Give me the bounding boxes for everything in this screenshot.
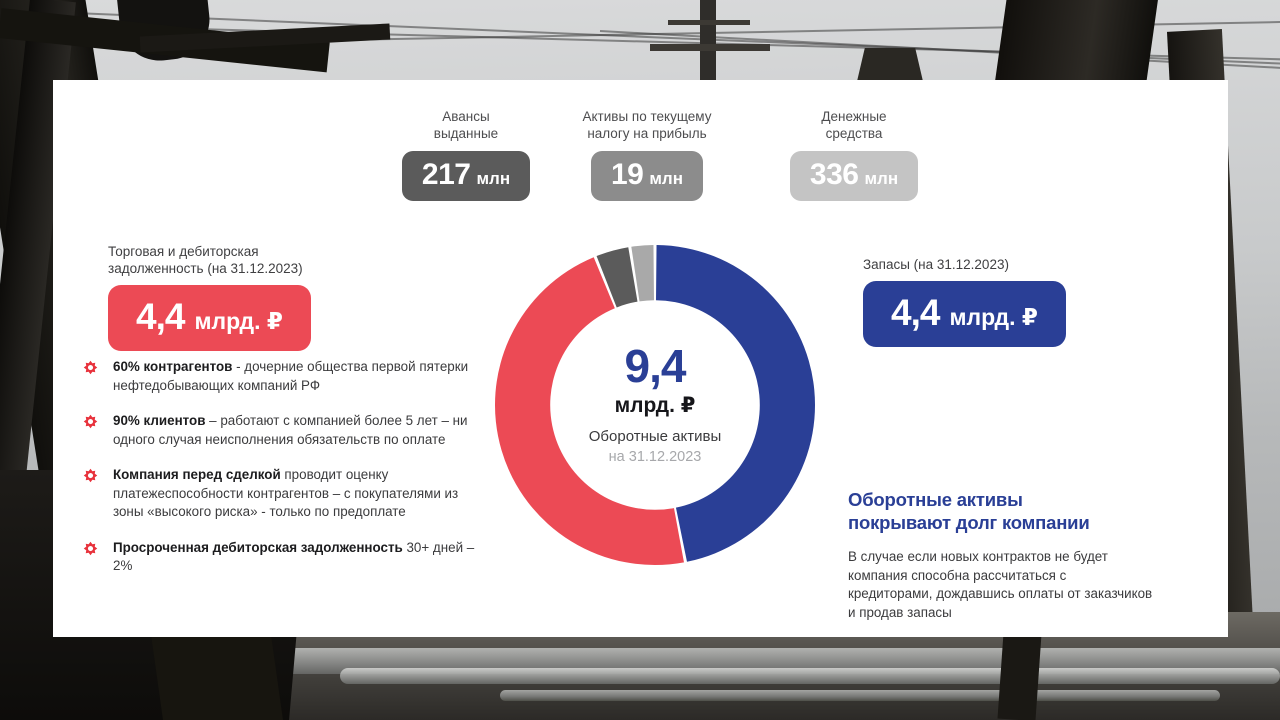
stat-advances-label: Авансы выданные	[393, 108, 539, 142]
list-item-text: Компания перед сделкой проводит оценку п…	[113, 467, 458, 519]
list-item: 60% контрагентов - дочерние общества пер…	[83, 358, 478, 395]
list-item: Компания перед сделкой проводит оценку п…	[83, 466, 478, 522]
stat-tax-assets-pill: 19 млн	[591, 151, 703, 201]
diamond-bullet-icon	[83, 360, 98, 375]
stat-cash: Денежные средства 336 млн	[781, 108, 927, 201]
utility-pole-crossarm	[668, 20, 750, 25]
stat-advances-pill: 217 млн	[402, 151, 530, 201]
conclusion-body: В случае если новых контрактов не будет …	[848, 548, 1218, 622]
diamond-bullet-icon	[83, 414, 98, 429]
inventory-block: Запасы (на 31.12.2023) 4,4 млрд. ₽	[863, 256, 1066, 347]
list-item-text: 60% контрагентов - дочерние общества пер…	[113, 359, 468, 393]
list-item-strong: Компания перед сделкой	[113, 467, 281, 482]
stat-tax-assets-unit: млн	[649, 170, 683, 187]
stat-cash-label: Денежные средства	[781, 108, 927, 142]
diamond-bullet-icon	[83, 468, 98, 483]
donut-slice: Запасы — 4.4 млрд. ₽	[656, 245, 815, 562]
stat-advances-value: 217	[422, 160, 471, 190]
list-item-text: Просроченная дебиторская задолженность 3…	[113, 540, 474, 574]
donut-svg: Запасы — 4.4 млрд. ₽Торговая и дебиторск…	[490, 240, 820, 570]
pipeline	[500, 690, 1220, 701]
receivables-pill: 4,4 млрд. ₽	[108, 285, 311, 351]
list-item: Просроченная дебиторская задолженность 3…	[83, 539, 478, 576]
current-assets-donut-chart: Запасы — 4.4 млрд. ₽Торговая и дебиторск…	[490, 240, 820, 570]
list-item: 90% клиентов – работают с компанией боле…	[83, 412, 478, 449]
stat-advances-unit: млн	[476, 170, 510, 187]
slide-stage: Авансы выданные 217 млн Активы по текуще…	[0, 0, 1280, 720]
stat-tax-assets: Активы по текущему налогу на прибыль 19 …	[561, 108, 733, 201]
conclusion-block: Оборотные активы покрывают долг компании…	[848, 488, 1218, 622]
donut-slices: Запасы — 4.4 млрд. ₽Торговая и дебиторск…	[495, 245, 815, 565]
list-item-strong: 60% контрагентов	[113, 359, 232, 374]
diamond-bullet-icon	[83, 541, 98, 556]
receivables-block: Торговая и дебиторская задолженность (на…	[108, 243, 311, 351]
receivables-caption: Торговая и дебиторская задолженность (на…	[108, 243, 311, 277]
inventory-unit: млрд. ₽	[949, 306, 1038, 329]
stat-cash-pill: 336 млн	[790, 151, 918, 201]
bullet-list: 60% контрагентов - дочерние общества пер…	[83, 358, 478, 576]
stat-advances: Авансы выданные 217 млн	[393, 108, 539, 201]
donut-slice: Торговая и дебиторская задолженность — 4…	[495, 257, 684, 565]
stat-cash-value: 336	[810, 160, 859, 190]
inventory-caption: Запасы (на 31.12.2023)	[863, 256, 1066, 273]
stat-cash-unit: млн	[864, 170, 898, 187]
list-item-strong: 90% клиентов	[113, 413, 205, 428]
receivables-value: 4,4	[136, 298, 184, 335]
list-item-strong: Просроченная дебиторская задолженность	[113, 540, 403, 555]
utility-pole-crossarm	[650, 44, 770, 51]
conclusion-title: Оборотные активы покрывают долг компании	[848, 488, 1218, 534]
inventory-pill: 4,4 млрд. ₽	[863, 281, 1066, 347]
list-item-text: 90% клиентов – работают с компанией боле…	[113, 413, 468, 447]
pipeline	[340, 668, 1280, 684]
top-stats-row: Авансы выданные 217 млн Активы по текуще…	[393, 108, 893, 228]
inventory-value: 4,4	[891, 294, 939, 331]
stat-tax-assets-value: 19	[611, 160, 643, 190]
content-card: Авансы выданные 217 млн Активы по текуще…	[53, 80, 1228, 637]
stat-tax-assets-label: Активы по текущему налогу на прибыль	[561, 108, 733, 142]
receivables-unit: млрд. ₽	[194, 310, 283, 333]
